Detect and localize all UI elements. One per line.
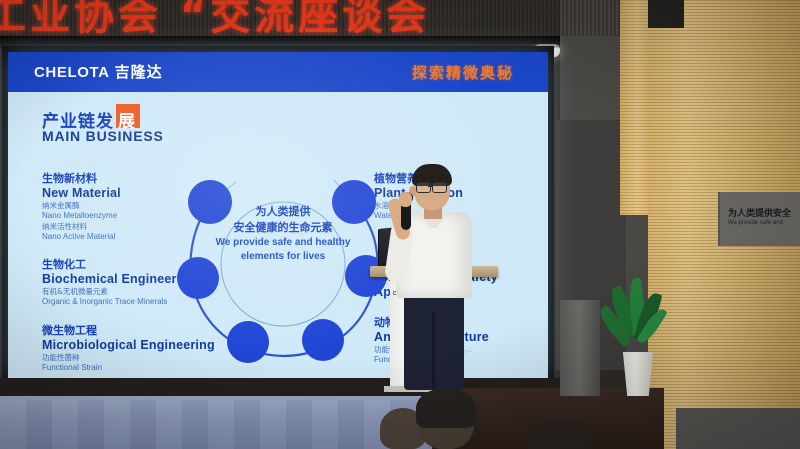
speaker-glasses-bridge — [428, 185, 433, 187]
speaker-glasses-left — [416, 182, 431, 193]
brand-logo: CHELOTA吉隆达 — [34, 61, 163, 82]
brand-name-en: CHELOTA — [34, 64, 110, 81]
center-en-line2: elements for lives — [198, 250, 368, 264]
floor-speaker-box — [560, 300, 600, 396]
wood-wall-notch — [648, 0, 684, 28]
brand-name-cn: 吉隆达 — [115, 63, 163, 81]
audience-hair — [416, 388, 476, 428]
ring-node — [227, 321, 269, 363]
speaker-glasses-right — [432, 182, 447, 193]
wall-plaque-cn: 为人类提供安全 — [728, 206, 791, 219]
center-cn-line2: 安全健康的生命元素 — [198, 220, 368, 236]
ring-node — [177, 257, 219, 299]
title-highlight-char: 展 — [118, 107, 135, 132]
audience-head — [528, 420, 592, 449]
slide-title-en: MAIN BUSINESS — [42, 128, 164, 144]
wall-plaque-en: We provide safe and — [728, 220, 783, 226]
speaker-hand — [399, 192, 412, 207]
chair-back — [676, 408, 800, 449]
led-banner-text: 工业协会 “交流座谈会 — [0, 0, 430, 38]
ring-center-text: 为人类提供 安全健康的生命元素 We provide safe and heal… — [198, 204, 368, 263]
screenshot-root: 工业协会 “交流座谈会 CHELOTA吉隆达 探索精微奥秘 产业链发 展 MAI… — [0, 0, 800, 449]
center-cn-line1: 为人类提供 — [198, 204, 368, 220]
wall-plaque: 为人类提供安全 We provide safe and — [718, 192, 800, 246]
ring-node — [302, 319, 344, 361]
header-slogan: 探索精微奥秘 — [412, 62, 514, 83]
slide-header-bar: CHELOTA吉隆达 探索精微奥秘 — [8, 52, 548, 92]
speaker-leg-split — [432, 312, 435, 390]
center-en-line1: We provide safe and healthy — [198, 236, 368, 250]
